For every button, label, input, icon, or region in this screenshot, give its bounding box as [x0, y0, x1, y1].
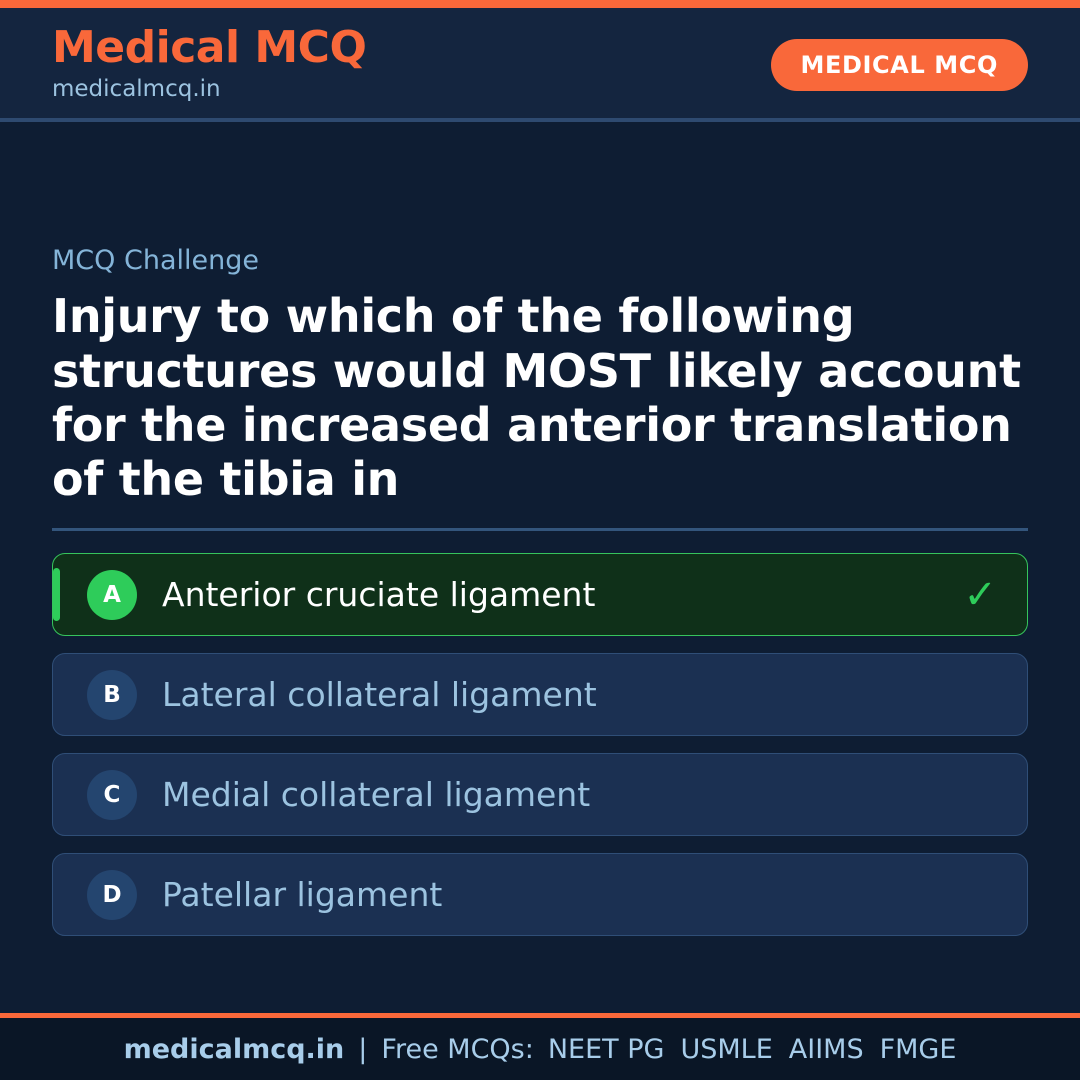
option-a[interactable]: A Anterior cruciate ligament ✓ [52, 553, 1028, 636]
option-c-label: Medial collateral ligament [162, 775, 1005, 815]
option-b[interactable]: B Lateral collateral ligament [52, 653, 1028, 736]
footer-exam-usmle: USMLE [680, 1034, 772, 1065]
question-divider [52, 528, 1028, 531]
option-d-label: Patellar ligament [162, 875, 1005, 915]
header-badge: MEDICAL MCQ [771, 39, 1028, 91]
option-b-badge: B [87, 670, 137, 720]
option-b-label: Lateral collateral ligament [162, 675, 1005, 715]
body-spacer [52, 936, 1028, 1013]
top-accent-rule [0, 0, 1080, 8]
brand-title: Medical MCQ [52, 25, 366, 71]
kicker-label: MCQ Challenge [52, 245, 1028, 277]
option-d[interactable]: D Patellar ligament [52, 853, 1028, 936]
main-content: MCQ Challenge Injury to which of the fol… [0, 122, 1080, 1013]
option-c-badge: C [87, 770, 137, 820]
footer-exam-fmge: FMGE [880, 1034, 957, 1065]
footer-separator: | [358, 1034, 367, 1065]
brand: Medical MCQ medicalmcq.in [52, 25, 366, 105]
footer-exam-aiims: AIIMS [789, 1034, 864, 1065]
question-text: Injury to which of the following structu… [52, 289, 1028, 506]
check-icon: ✓ [963, 575, 997, 615]
option-c[interactable]: C Medial collateral ligament [52, 753, 1028, 836]
brand-subtitle: medicalmcq.in [52, 73, 366, 105]
page-footer: medicalmcq.in | Free MCQs: NEET PG USMLE… [0, 1018, 1080, 1080]
footer-exam-neetpg: NEET PG [548, 1034, 665, 1065]
option-a-label: Anterior cruciate ligament [162, 575, 963, 615]
footer-exams-list: NEET PG USMLE AIIMS FMGE [548, 1034, 957, 1065]
footer-site-link[interactable]: medicalmcq.in [124, 1034, 345, 1065]
page-header: Medical MCQ medicalmcq.in MEDICAL MCQ [0, 8, 1080, 122]
footer-content: medicalmcq.in | Free MCQs: NEET PG USMLE… [124, 1034, 957, 1065]
footer-exams-prefix: Free MCQs: [381, 1034, 533, 1065]
option-a-badge: A [87, 570, 137, 620]
option-d-badge: D [87, 870, 137, 920]
mcq-slide: Medical MCQ medicalmcq.in MEDICAL MCQ MC… [0, 0, 1080, 1080]
options-list: A Anterior cruciate ligament ✓ B Lateral… [52, 553, 1028, 936]
correct-accent-bar [53, 568, 60, 621]
